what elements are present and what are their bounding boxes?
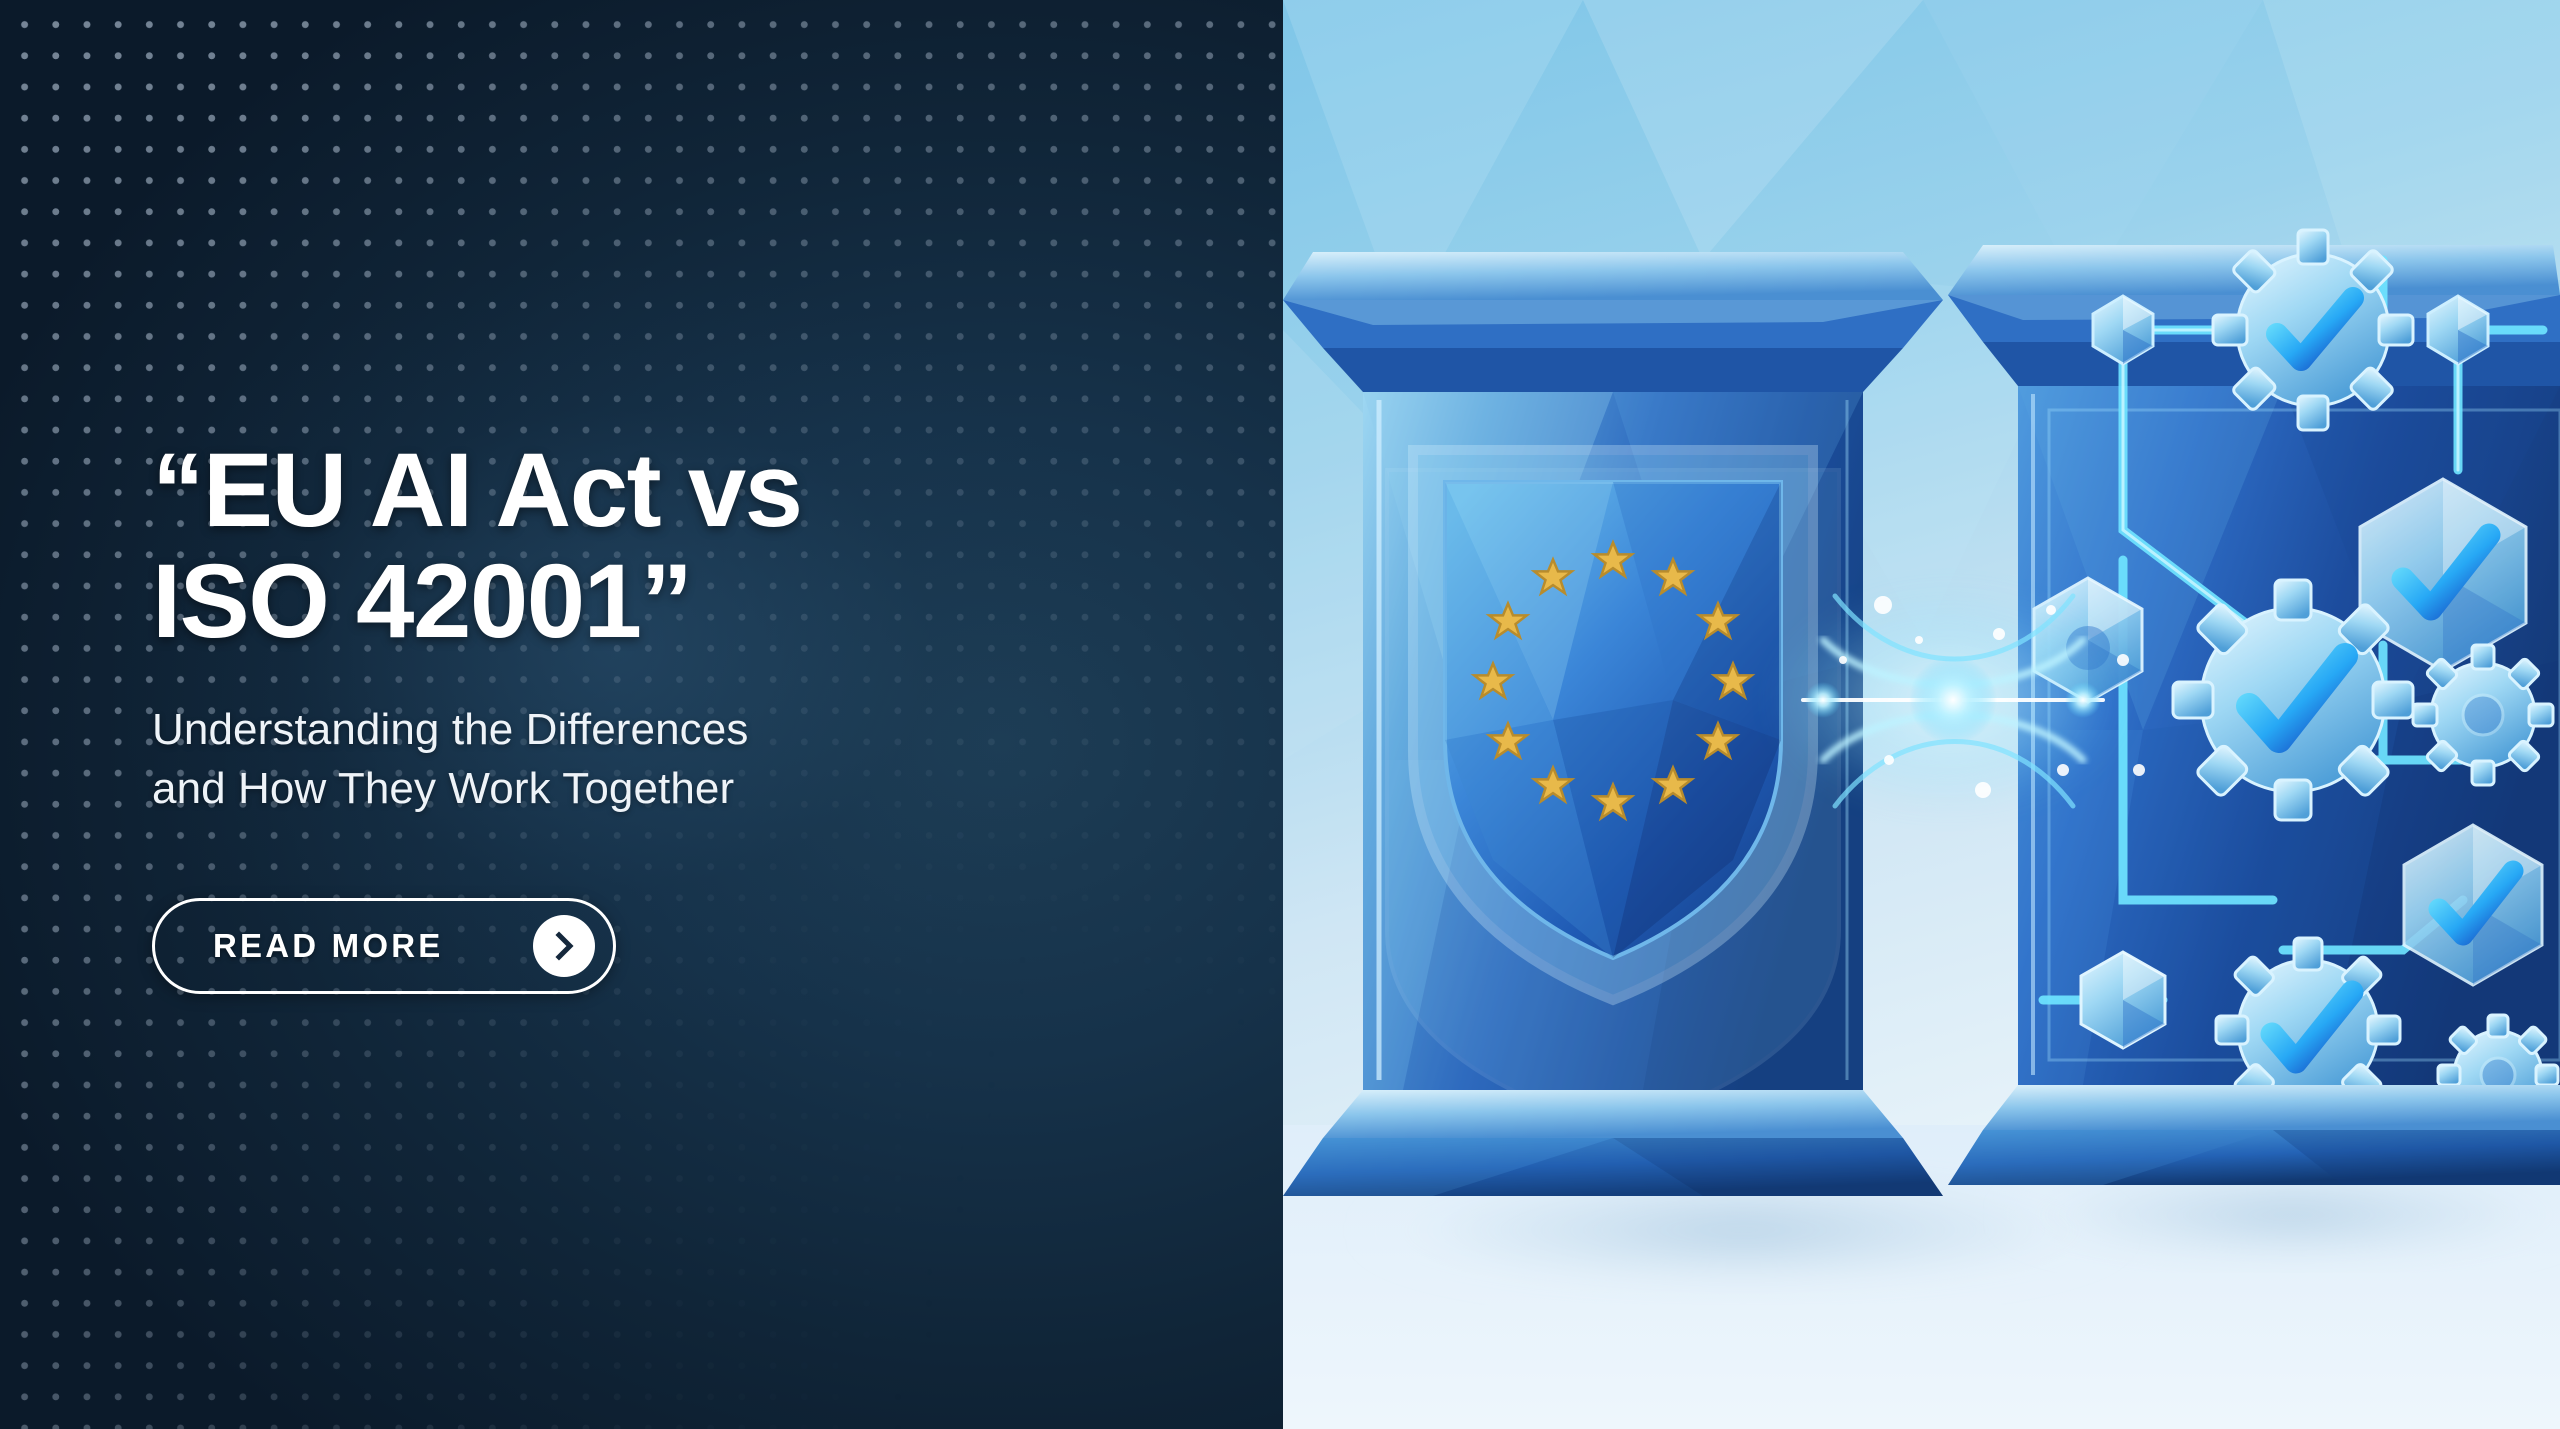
read-more-button[interactable]: READ MORE (152, 898, 616, 994)
gear-check-icon (2173, 580, 2413, 820)
left-content-panel: “EU AI Act vs ISO 42001” Understanding t… (0, 0, 1283, 1429)
page-subtitle: Understanding the Differences and How Th… (152, 701, 872, 818)
read-more-label: READ MORE (213, 927, 443, 965)
artwork-panel (1283, 0, 2560, 1429)
page-title: “EU AI Act vs ISO 42001” (152, 435, 872, 658)
gear-check-icon (2213, 230, 2413, 430)
text-content: “EU AI Act vs ISO 42001” Understanding t… (152, 0, 872, 1429)
chevron-right-icon (533, 915, 595, 977)
hero-banner: “EU AI Act vs ISO 42001” Understanding t… (0, 0, 2560, 1429)
gear-icon (2413, 645, 2553, 785)
pillars-illustration (1283, 0, 2560, 1429)
